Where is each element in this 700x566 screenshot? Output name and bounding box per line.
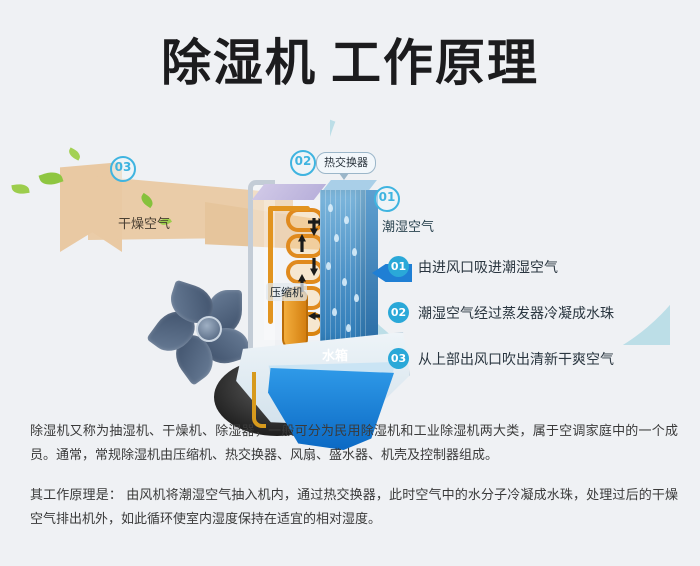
label-humid-air: 潮湿空气	[382, 216, 434, 235]
step-list: 01 由进风口吸进潮湿空气 02 潮湿空气经过蒸发器冷凝成水珠 03 从上部出风…	[388, 256, 688, 394]
step-text: 由进风口吸进潮湿空气	[418, 257, 558, 277]
top-plate	[252, 184, 327, 200]
paragraph-2: 其工作原理是： 由风机将潮湿空气抽入机内，通过热交换器，此时空气中的水分子冷凝成…	[30, 484, 678, 532]
title-part-1: 除湿机	[161, 34, 317, 92]
leaf-icon	[11, 183, 29, 195]
step-text: 从上部出风口吹出清新干爽空气	[418, 349, 614, 369]
step-badge: 03	[388, 348, 409, 369]
leaf-icon	[39, 169, 64, 188]
step-badge: 02	[388, 302, 409, 323]
label-compressor: 压缩机	[266, 283, 307, 301]
evaporator-side	[366, 190, 378, 342]
list-item: 01 由进风口吸进潮湿空气	[388, 256, 688, 277]
infographic-page: 除湿机工作原理	[0, 0, 700, 566]
label-dry-air: 干燥空气	[118, 213, 170, 232]
list-item: 03 从上部出风口吹出清新干爽空气	[388, 348, 688, 369]
step-badge: 01	[388, 256, 409, 277]
title-part-2: 工作原理	[331, 34, 539, 92]
callout-heat-exchanger: 热交换器	[316, 152, 376, 174]
leaf-icon	[67, 147, 82, 160]
step-text: 潮湿空气经过蒸发器冷凝成水珠	[418, 303, 614, 323]
marker-01: 01	[374, 186, 400, 212]
evaporator-block	[320, 190, 366, 342]
paragraph-1: 除湿机又称为抽湿机、干燥机、除湿器，一般可分为民用除湿机和工业除湿机两大类，属于…	[30, 420, 678, 468]
marker-02: 02	[290, 150, 316, 176]
label-water-tank: 水箱	[322, 345, 348, 364]
list-item: 02 潮湿空气经过蒸发器冷凝成水珠	[388, 302, 688, 323]
page-title: 除湿机工作原理	[0, 34, 700, 92]
body-copy: 除湿机又称为抽湿机、干燥机、除湿器，一般可分为民用除湿机和工业除湿机两大类，属于…	[30, 420, 678, 548]
marker-03: 03	[110, 156, 136, 182]
